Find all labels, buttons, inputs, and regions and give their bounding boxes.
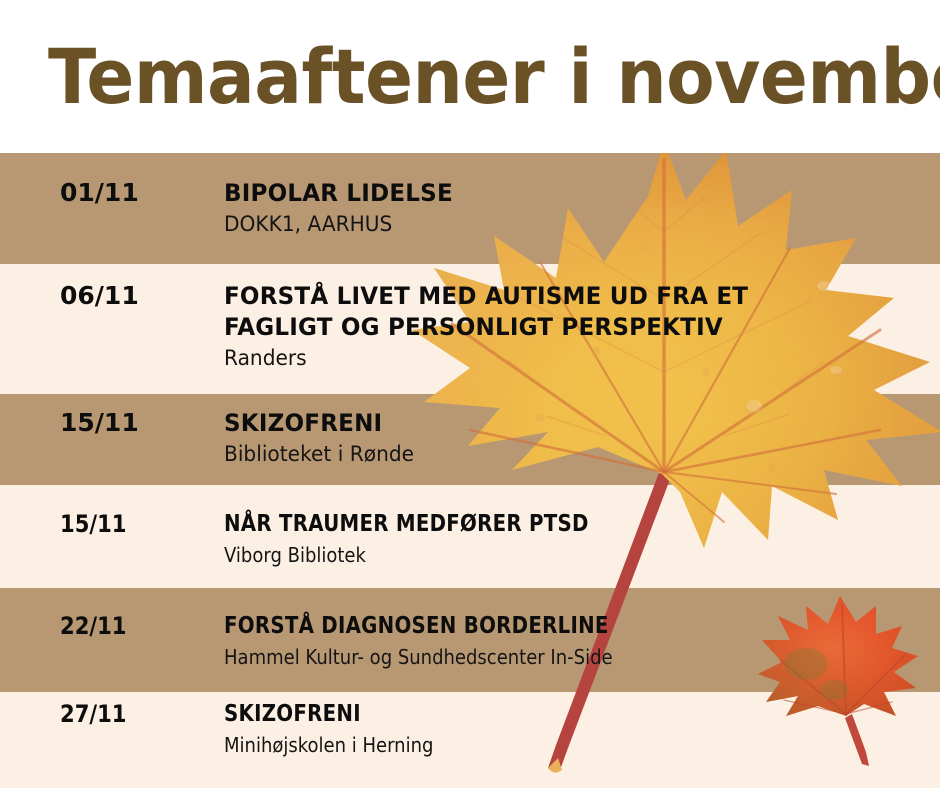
event-content: FORSTÅ DIAGNOSEN BORDERLINE Hammel Kultu… — [224, 612, 940, 670]
event-date: 27/11 — [60, 700, 126, 728]
page-title: Temaaftener i november — [48, 39, 940, 115]
event-date: 15/11 — [60, 408, 139, 437]
event-place: DOKK1, AARHUS — [224, 211, 911, 238]
event-date: 06/11 — [60, 281, 139, 310]
event-content: FORSTÅ LIVET MED AUTISME UD FRA ET FAGLI… — [224, 281, 940, 373]
poster-canvas: Temaaftener i november 01/11 BIPOLAR LID… — [0, 0, 940, 788]
event-title: SKIZOFRENI — [224, 700, 840, 730]
event-place: Minihøjskolen i Herning — [224, 732, 868, 758]
event-date: 15/11 — [60, 510, 126, 538]
event-title: NÅR TRAUMER MEDFØRER PTSD — [224, 510, 840, 540]
event-content: NÅR TRAUMER MEDFØRER PTSD Viborg Bibliot… — [224, 510, 940, 568]
event-content: SKIZOFRENI Biblioteket i Rønde — [224, 408, 940, 468]
event-title: FORSTÅ LIVET MED AUTISME UD FRA ET FAGLI… — [224, 281, 911, 343]
event-place: Hammel Kultur- og Sundhedscenter In-Side — [224, 644, 868, 670]
event-date: 01/11 — [60, 178, 139, 207]
event-title: FORSTÅ DIAGNOSEN BORDERLINE — [224, 612, 840, 642]
event-content: BIPOLAR LIDELSE DOKK1, AARHUS — [224, 178, 940, 238]
event-place: Biblioteket i Rønde — [224, 441, 911, 468]
event-title: SKIZOFRENI — [224, 408, 911, 439]
event-place: Randers — [224, 345, 911, 372]
event-title: BIPOLAR LIDELSE — [224, 178, 911, 209]
title-bar: Temaaftener i november — [0, 0, 940, 153]
event-content: SKIZOFRENI Minihøjskolen i Herning — [224, 700, 940, 758]
event-place: Viborg Bibliotek — [224, 542, 868, 568]
event-date: 22/11 — [60, 612, 126, 640]
